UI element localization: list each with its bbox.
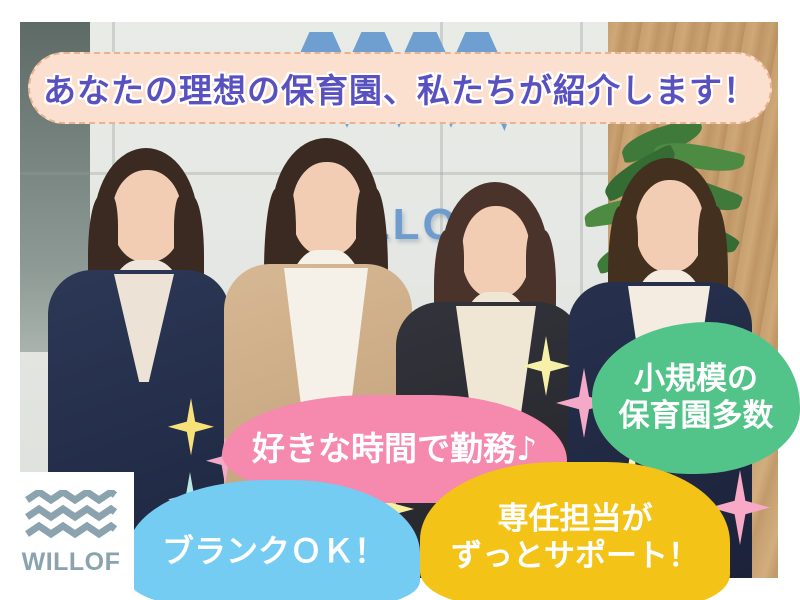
bubble-blank-ok: ブランクＯＫ！ [128, 480, 420, 600]
bubble-text: 専任担当が ずっとサポート！ [451, 501, 699, 574]
bubble-text: ブランクＯＫ！ [162, 533, 386, 571]
face [462, 206, 530, 298]
willof-logo-badge: WILLOF [8, 472, 134, 594]
willof-chevron-icon [25, 490, 117, 542]
face [292, 162, 362, 256]
headline-banner: あなたの理想の保育園、私たちが紹介します！ [28, 52, 772, 124]
advertisement-banner: WILLOF [0, 0, 800, 600]
face [636, 180, 704, 272]
bubble-dedicated-support: 専任担当が ずっとサポート！ [420, 462, 730, 600]
willof-wordmark: WILLOF [22, 548, 121, 577]
headline-text: あなたの理想の保育園、私たちが紹介します！ [43, 64, 757, 112]
bubble-text: 小規模の 保育園多数 [619, 361, 774, 434]
face [112, 170, 182, 262]
bubble-small-nurseries: 小規模の 保育園多数 [592, 322, 800, 474]
bubble-text: 好きな時間で勤務♪ [252, 430, 537, 469]
